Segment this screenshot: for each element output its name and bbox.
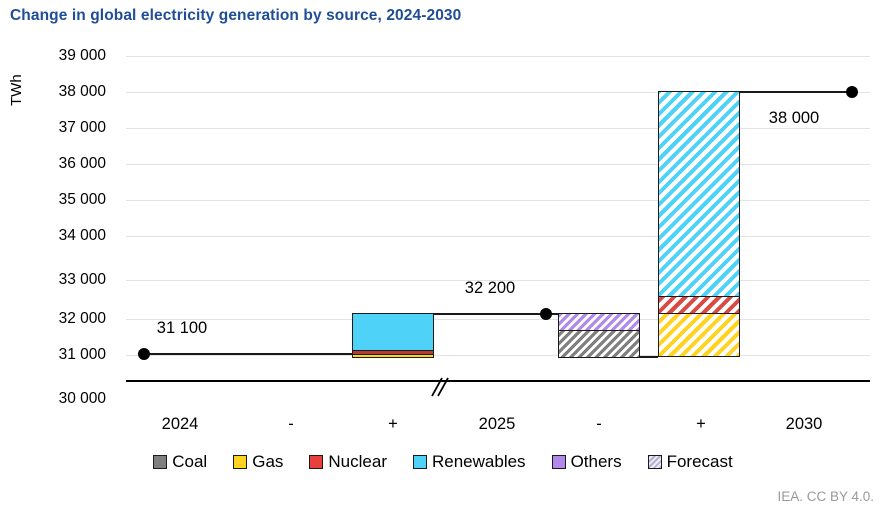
legend-label-forecast: Forecast <box>667 452 733 472</box>
x-tick-2025: 2025 <box>479 415 516 434</box>
legend-item-others[interactable]: Others <box>552 452 622 472</box>
y-tick-34000: 34 000 <box>10 227 106 245</box>
bar-segment-coal <box>559 331 639 358</box>
x-axis-labels: 2024 - + 2025 - + 2030 <box>126 415 870 441</box>
legend-label-coal: Coal <box>172 452 207 472</box>
x-tick-2030: 2030 <box>786 415 823 434</box>
plot-area: 31 100 32 200 38 000 <box>126 53 870 381</box>
legend-swatch-nuclear <box>309 455 323 469</box>
credit-text: IEA. CC BY 4.0. <box>777 489 874 504</box>
chart-container: Change in global electricity generation … <box>0 0 886 512</box>
connector-plus1-to-2025 <box>434 313 546 315</box>
gridline-39000 <box>126 56 870 57</box>
gridline-31000 <box>126 355 870 356</box>
bar-segment-gas <box>353 355 433 358</box>
legend-item-forecast[interactable]: Forecast <box>648 452 733 472</box>
gridline-37000 <box>126 128 870 129</box>
segment-divider <box>353 350 433 351</box>
y-tick-30000: 30 000 <box>10 390 106 408</box>
bar-segment-others <box>559 314 639 331</box>
gridline-32000 <box>126 319 870 320</box>
legend-swatch-coal <box>153 455 167 469</box>
connector-plus2-to-2030 <box>740 91 852 93</box>
legend-item-nuclear[interactable]: Nuclear <box>309 452 387 472</box>
total-marker-2025 <box>540 308 552 320</box>
connector-minus2-to-plus2 <box>640 356 658 358</box>
legend-item-coal[interactable]: Coal <box>153 452 207 472</box>
bar-segment-nuclear <box>659 297 739 314</box>
value-label-2030: 38 000 <box>769 109 819 128</box>
connector-2024-to-plus1 <box>144 353 352 355</box>
legend-label-nuclear: Nuclear <box>328 452 387 472</box>
y-tick-37000: 37 000 <box>10 119 106 137</box>
x-tick-plus-2: + <box>696 415 706 434</box>
y-tick-32000: 32 000 <box>10 310 106 328</box>
legend-swatch-gas <box>233 455 247 469</box>
gridline-36000 <box>126 164 870 165</box>
axis-break-icon <box>418 376 458 400</box>
chart-legend: Coal Gas Nuclear Renewables Others Forec… <box>0 449 886 475</box>
value-label-2024: 31 100 <box>157 319 207 338</box>
bar-segment-gas <box>659 314 739 357</box>
x-tick-2024: 2024 <box>162 415 199 434</box>
bar-segment-renewables <box>659 92 739 297</box>
bar-2025-increase[interactable] <box>352 313 434 358</box>
y-axis-labels: 39 000 38 000 37 000 36 000 35 000 34 00… <box>10 0 106 512</box>
x-axis-line <box>126 380 870 382</box>
y-tick-33000: 33 000 <box>10 271 106 289</box>
segment-divider <box>353 354 433 355</box>
x-tick-minus-2: - <box>596 415 602 434</box>
bar-segment-renewables <box>353 314 433 351</box>
y-tick-38000: 38 000 <box>10 83 106 101</box>
y-tick-39000: 39 000 <box>10 47 106 65</box>
y-tick-36000: 36 000 <box>10 155 106 173</box>
legend-item-gas[interactable]: Gas <box>233 452 283 472</box>
x-tick-plus-1: + <box>388 415 398 434</box>
legend-label-renewables: Renewables <box>432 452 526 472</box>
bar-2030-decrease[interactable] <box>558 313 640 358</box>
gridline-34000 <box>126 236 870 237</box>
gridline-35000 <box>126 200 870 201</box>
x-tick-minus-1: - <box>288 415 294 434</box>
legend-swatch-renewables <box>413 455 427 469</box>
total-marker-2030 <box>846 86 858 98</box>
value-label-2025: 32 200 <box>465 279 515 298</box>
legend-label-others: Others <box>571 452 622 472</box>
y-tick-31000: 31 000 <box>10 346 106 364</box>
legend-swatch-others <box>552 455 566 469</box>
total-marker-2024 <box>138 348 150 360</box>
legend-label-gas: Gas <box>252 452 283 472</box>
legend-swatch-forecast <box>648 455 662 469</box>
legend-item-renewables[interactable]: Renewables <box>413 452 526 472</box>
y-tick-35000: 35 000 <box>10 191 106 209</box>
bar-2030-increase[interactable] <box>658 91 740 357</box>
